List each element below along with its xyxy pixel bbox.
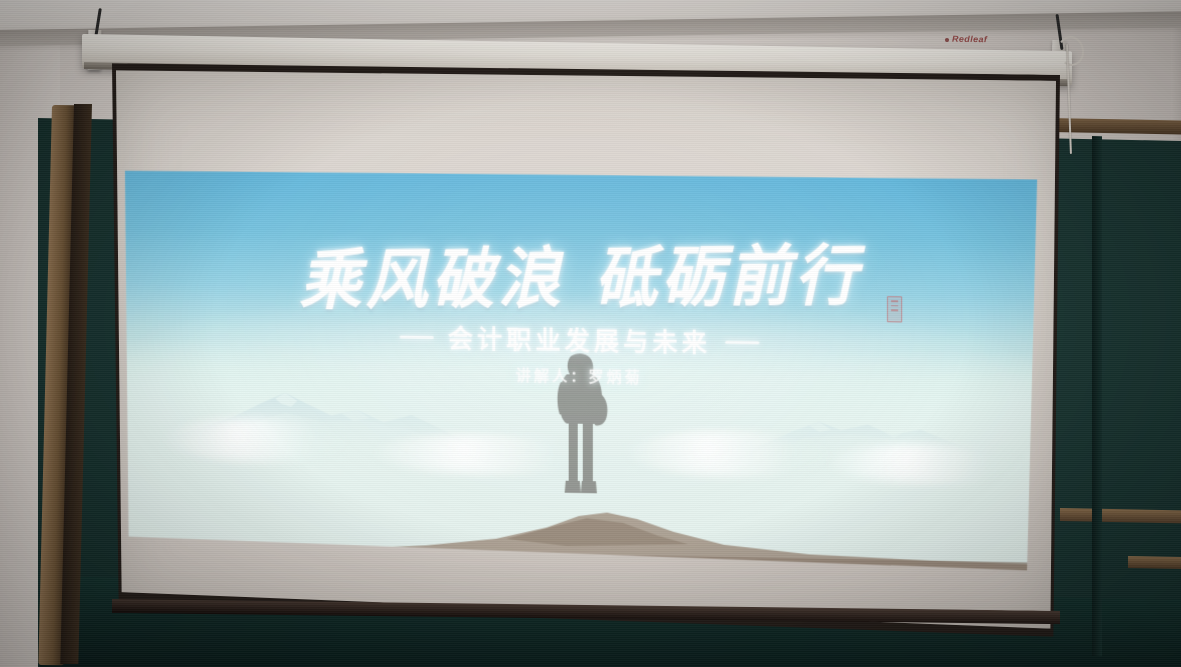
subtitle-dash-right (725, 340, 759, 344)
slide-background: 乘风破浪砥砺前行 会计职业发展与未来 讲解人：罗炳菊 (125, 166, 1037, 571)
subtitle-dash-left (400, 335, 434, 339)
chalkboard-frame-middle (1060, 508, 1181, 524)
slide-presenter: 讲解人：罗炳菊 (125, 358, 1037, 394)
screen-brand-label: Redleaf (952, 34, 987, 44)
slide-subtitle: 会计职业发展与未来 (448, 319, 711, 359)
projected-slide[interactable]: 乘风破浪砥砺前行 会计职业发展与未来 讲解人：罗炳菊 (125, 166, 1037, 571)
seal-stamp-icon (887, 296, 902, 322)
slide-title-part1: 乘风破浪 (298, 239, 565, 319)
classroom-scene: Redleaf (0, 0, 1181, 667)
slide-title-part2: 砥砺前行 (594, 237, 863, 317)
brand-dot-icon (945, 38, 949, 42)
chalkboard-frame-right (1128, 556, 1181, 569)
chalkboard-right-edge (1092, 136, 1102, 656)
slide-text-block: 乘风破浪砥砺前行 会计职业发展与未来 讲解人：罗炳菊 (125, 166, 1037, 571)
